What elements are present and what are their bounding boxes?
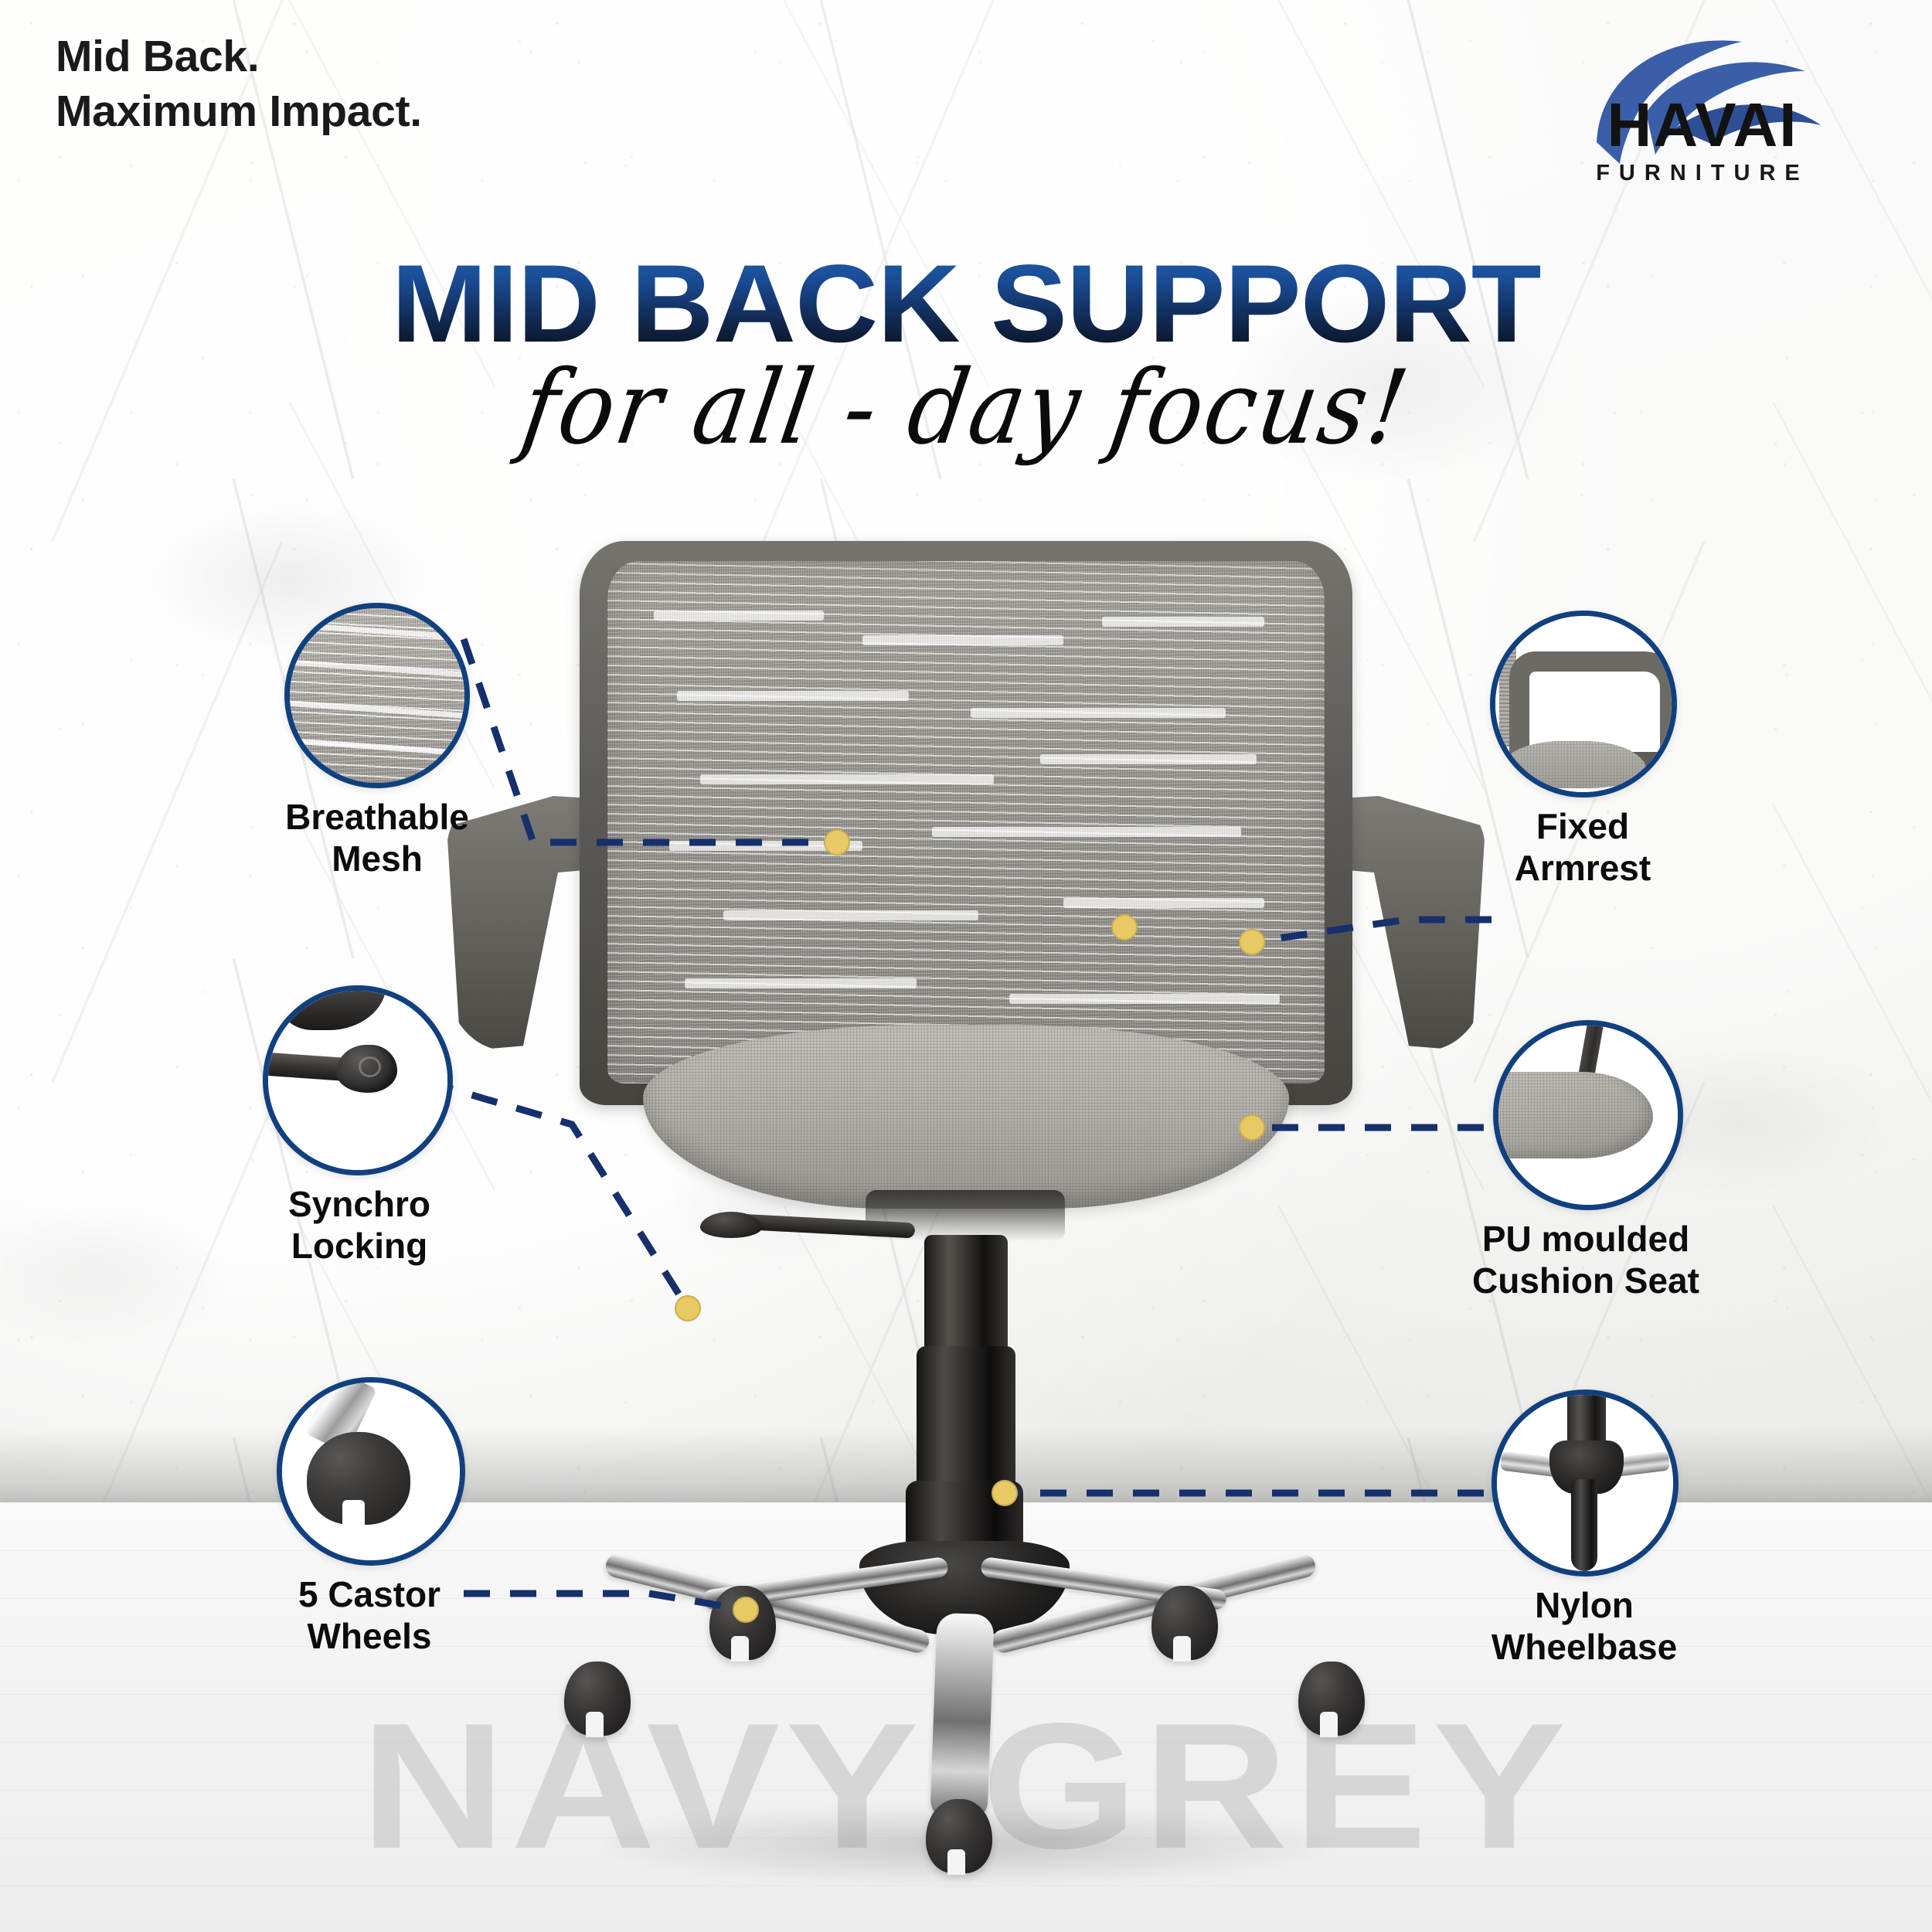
castor-wheel-3: [1151, 1586, 1218, 1660]
breathable-mesh-label: Breathable Mesh: [215, 796, 539, 880]
breathable-mesh-swatch: [284, 603, 470, 788]
header-tagline: Mid Back. Maximum Impact.: [56, 29, 422, 140]
page-title: MID BACK SUPPORT: [0, 249, 1932, 359]
castor-wheels-label: 5 Castor Wheels: [207, 1573, 532, 1658]
seat-cushion: [643, 1025, 1289, 1209]
brand-subtitle: FURNITURE: [1560, 162, 1845, 185]
castor-wheel-2: [709, 1586, 776, 1660]
castor-wheel-4: [1298, 1662, 1365, 1736]
wheelbase-icon: [1497, 1395, 1673, 1571]
fixed-armrest-swatch: [1490, 611, 1677, 798]
synchro-locking-label: Synchro Locking: [197, 1183, 522, 1267]
castor-wheels-swatch: [277, 1377, 465, 1566]
page-subtitle: for all - day focus!: [0, 356, 1932, 458]
castor-wheel-5: [926, 1799, 992, 1873]
fixed-armrest-label: Fixed Armrest: [1420, 805, 1745, 889]
armrest-icon: [1495, 616, 1672, 792]
brand-logo: HAVAI FURNITURE: [1560, 26, 1845, 204]
castor-wheel-1: [564, 1662, 631, 1736]
office-chair-illustration: [556, 541, 1376, 1901]
backrest-mesh: [607, 561, 1325, 1083]
product-infographic-poster: NAVY GREY: [0, 0, 1932, 1932]
nylon-wheelbase-label: Nylon Wheelbase: [1406, 1584, 1762, 1668]
cushion-seat-label: PU moulded Cushion Seat: [1400, 1218, 1771, 1302]
gas-cylinder-upper: [924, 1235, 1008, 1352]
base-spoke-center: [930, 1613, 994, 1821]
mesh-texture-icon: [290, 608, 464, 783]
nylon-wheelbase-swatch: [1492, 1389, 1679, 1577]
synchro-lever-icon: [268, 991, 447, 1170]
brand-name: HAVAI: [1560, 94, 1845, 156]
synchro-locking-swatch: [263, 985, 453, 1175]
synchro-lever-knob: [700, 1212, 762, 1238]
cushion-seat-swatch: [1493, 1020, 1683, 1210]
gas-cylinder-mid: [917, 1346, 1015, 1490]
castor-wheel-icon: [282, 1383, 460, 1560]
cushion-seat-icon: [1498, 1026, 1678, 1205]
